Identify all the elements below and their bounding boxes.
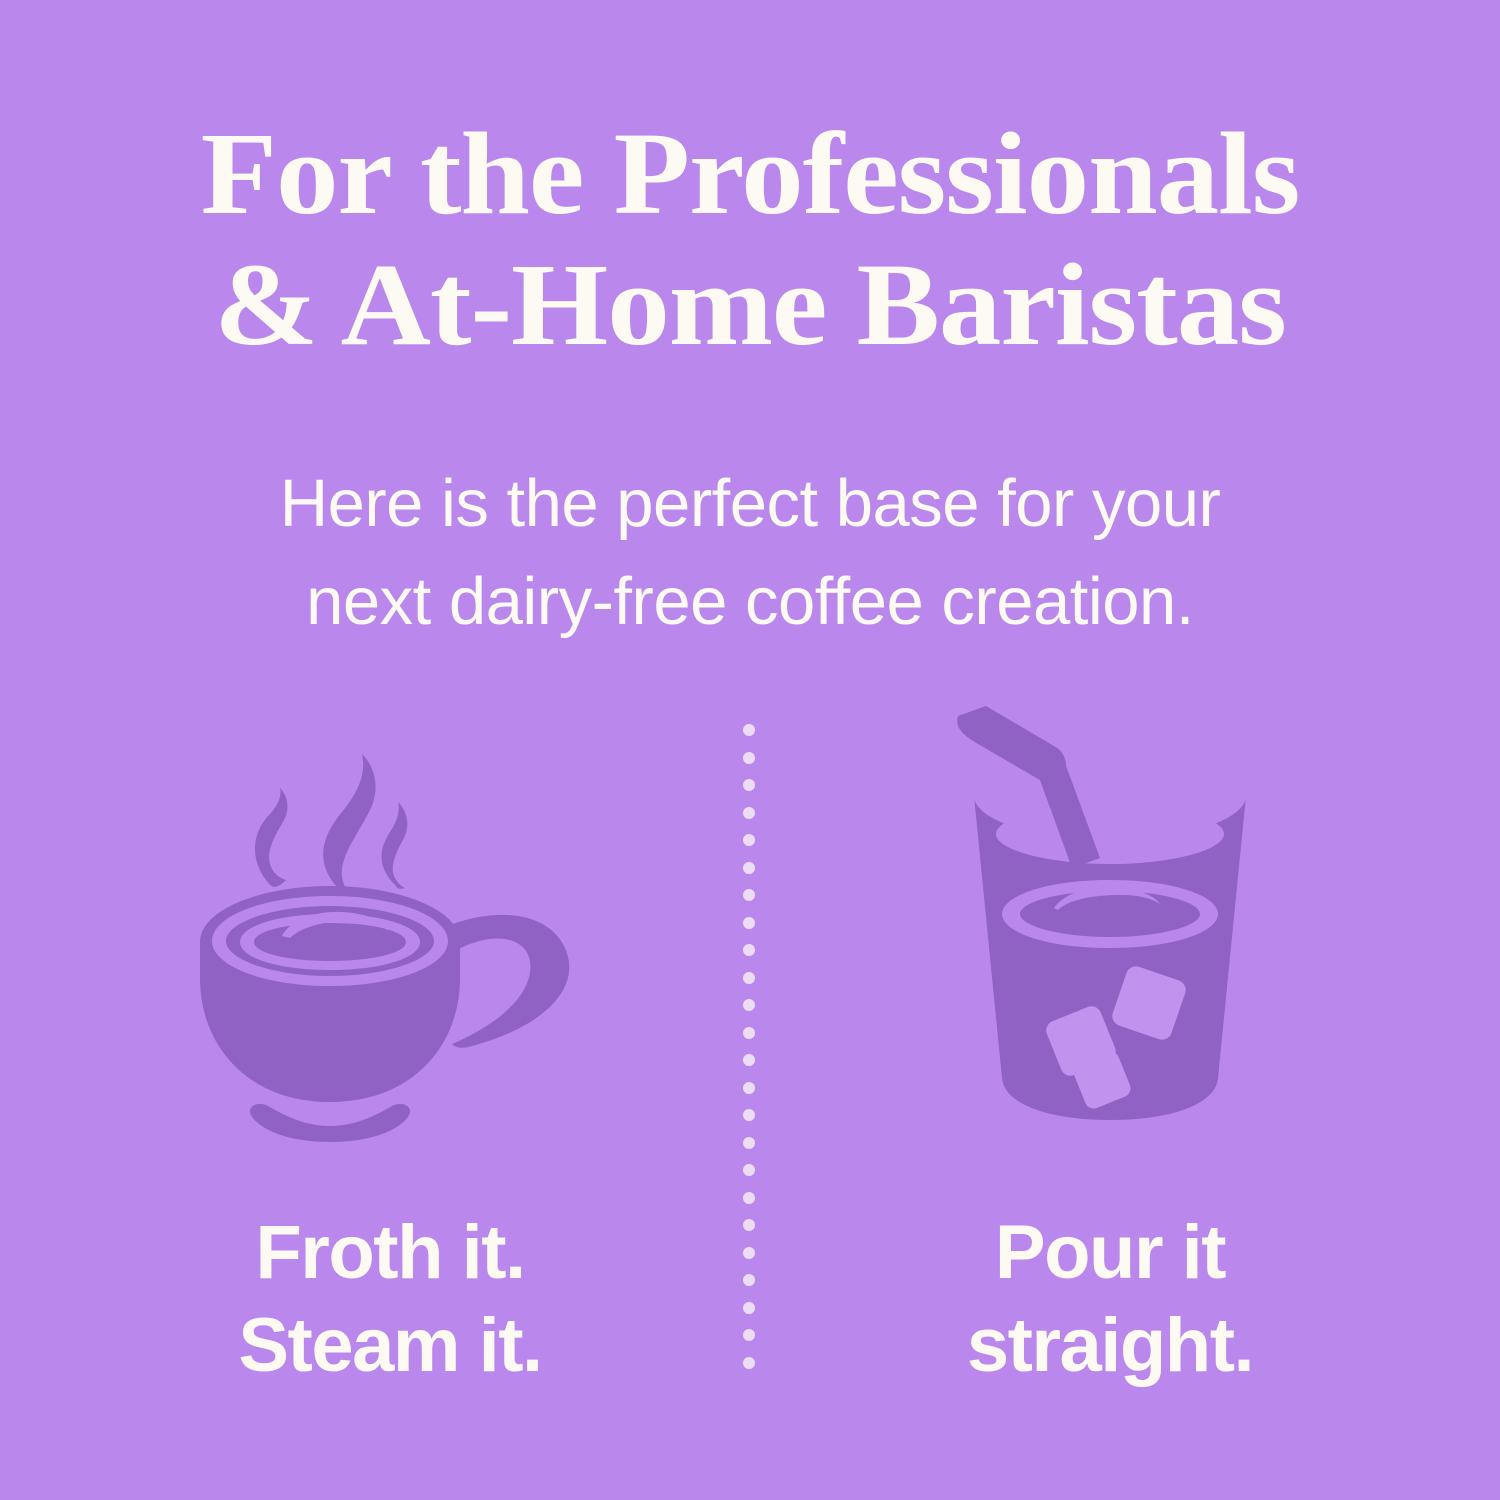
divider-dot <box>743 1302 755 1314</box>
caption-left-line-1: Froth it. <box>70 1206 710 1299</box>
divider-dot <box>743 944 755 956</box>
caption-left: Froth it. Steam it. <box>70 1206 710 1392</box>
subtitle-line-2: next dairy-free coffee creation. <box>0 553 1500 651</box>
divider-dot <box>743 724 755 736</box>
divider-dot <box>743 834 755 846</box>
divider-dot <box>743 1357 755 1369</box>
caption-right: Pour it straight. <box>790 1206 1430 1392</box>
divider-dot <box>743 752 755 764</box>
divider-dot <box>743 779 755 791</box>
panel-pour-straight: Pour it straight. <box>790 700 1430 1200</box>
subtitle-line-1: Here is the perfect base for your <box>0 455 1500 553</box>
divider-dot <box>743 972 755 984</box>
divider-dot <box>743 862 755 874</box>
page-subtitle: Here is the perfect base for your next d… <box>0 455 1500 651</box>
divider-dot <box>743 1247 755 1259</box>
divider-dot <box>743 1274 755 1286</box>
divider-dot <box>743 807 755 819</box>
iced-drink-glass-with-straw-icon <box>950 700 1270 1150</box>
caption-right-line-2: straight. <box>790 1299 1430 1392</box>
divider-dot <box>743 917 755 929</box>
promo-graphic-root: For the Professionals & At-Home Baristas… <box>0 0 1500 1500</box>
divider-dot <box>743 889 755 901</box>
page-title: For the Professionals & At-Home Baristas <box>0 108 1500 370</box>
panel-froth-steam: Froth it. Steam it. <box>70 700 710 1200</box>
caption-left-line-2: Steam it. <box>70 1299 710 1392</box>
divider-dot <box>743 1219 755 1231</box>
divider-dot <box>743 1192 755 1204</box>
dotted-vertical-divider <box>743 724 755 1376</box>
steaming-coffee-cup-icon <box>190 710 590 1150</box>
divider-dot <box>743 999 755 1011</box>
icon-container-right <box>790 700 1430 1200</box>
divider-dot <box>743 1109 755 1121</box>
divider-dot <box>743 1027 755 1039</box>
divider-dot <box>743 1082 755 1094</box>
headline-line-1: For the Professionals <box>0 108 1500 239</box>
icon-container-left <box>70 700 710 1200</box>
divider-dot <box>743 1054 755 1066</box>
headline-line-2: & At-Home Baristas <box>0 239 1500 370</box>
divider-dot <box>743 1137 755 1149</box>
caption-right-line-1: Pour it <box>790 1206 1430 1299</box>
divider-dot <box>743 1329 755 1341</box>
divider-dot <box>743 1164 755 1176</box>
